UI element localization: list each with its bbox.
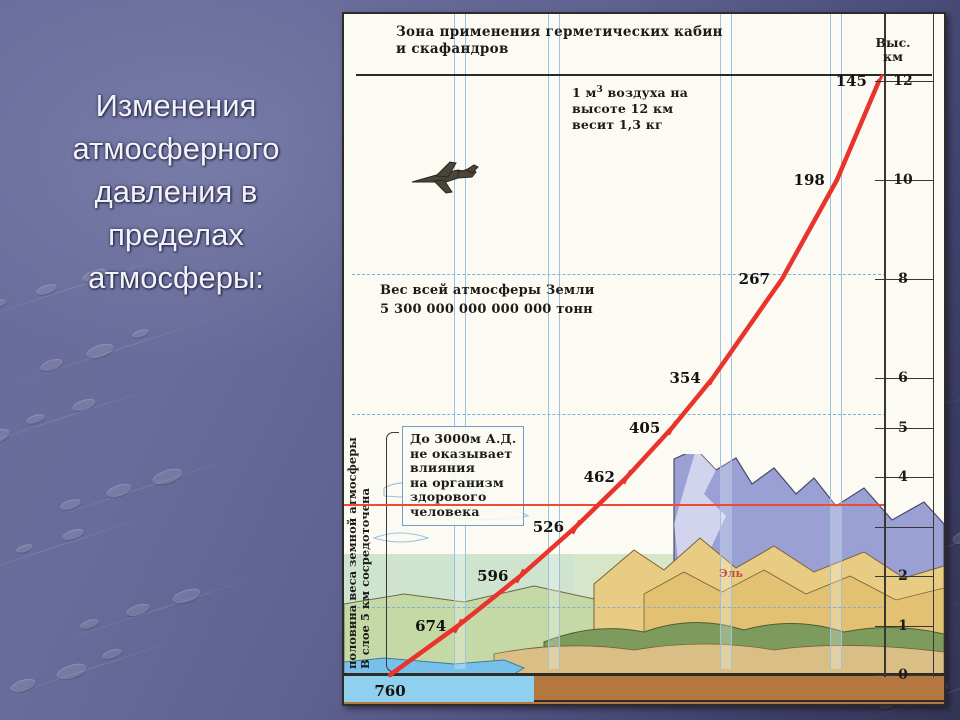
decorative-dot [39, 357, 64, 373]
decorative-dot [0, 426, 11, 447]
decorative-streak [0, 513, 159, 585]
pressure-label-145: 145 [836, 72, 871, 90]
decorative-dot [25, 412, 46, 425]
decorative-dot [0, 298, 7, 309]
decorative-dot [131, 328, 149, 340]
decorative-dot [61, 527, 85, 543]
axis-tick-label-8: 8 [892, 271, 914, 287]
decorative-streak [10, 313, 229, 385]
axis-tick [875, 576, 886, 577]
axis-tick-outer [886, 527, 934, 528]
axis-title-line-1: Выс. [858, 36, 928, 50]
axis-tick-label-5: 5 [892, 420, 914, 436]
decorative-streak [50, 573, 269, 645]
title-line-2: атмосферного [26, 127, 326, 170]
pressure-curve [344, 14, 944, 704]
title-line-1: Изменения [26, 84, 326, 127]
decorative-streak [30, 453, 249, 525]
title-line-4: пределах [26, 213, 326, 256]
decorative-dot [951, 526, 960, 547]
title-line-3: давления в [26, 170, 326, 213]
axis-tick [875, 180, 886, 181]
axis-tick [875, 378, 886, 379]
decorative-streak [0, 633, 199, 705]
pressure-label-198: 198 [794, 171, 829, 189]
page-title: Изменения атмосферного давления в предел… [26, 84, 326, 299]
pressure-label-526: 526 [533, 518, 568, 536]
decorative-dot [151, 466, 185, 488]
decorative-dot [55, 661, 89, 683]
altitude-axis [884, 14, 886, 677]
axis-tick [875, 626, 886, 627]
decorative-dot [85, 341, 115, 361]
axis-tick [875, 81, 886, 82]
axis-tick-label-6: 6 [892, 370, 914, 386]
decorative-dot [105, 481, 133, 499]
title-line-5: атмосферы: [26, 256, 326, 299]
altitude-axis-outer-border [933, 14, 935, 677]
axis-tick-label-2: 2 [892, 568, 914, 584]
decorative-dot [125, 602, 151, 619]
axis-tick-label-4: 4 [892, 469, 914, 485]
decorative-dot [79, 617, 100, 630]
axis-tick-label-1: 1 [892, 618, 914, 634]
presentation-slide: Изменения атмосферного давления в предел… [0, 0, 960, 720]
axis-title-line-2: км [858, 50, 928, 64]
axis-tick-label-10: 10 [892, 172, 914, 188]
decorative-dot [101, 647, 123, 661]
decorative-dot [9, 676, 37, 694]
decorative-dot [71, 397, 97, 414]
pressure-label-760: 760 [374, 682, 409, 700]
pressure-label-354: 354 [670, 369, 705, 387]
decorative-streak [0, 383, 169, 455]
axis-tick [875, 527, 886, 528]
axis-title: Выс. км [858, 36, 928, 64]
axis-tick [875, 477, 886, 478]
axis-tick [875, 279, 886, 280]
pressure-label-674: 674 [415, 617, 450, 635]
decorative-dot [171, 586, 202, 607]
pressure-label-267: 267 [739, 270, 774, 288]
axis-tick-label-12: 12 [892, 73, 914, 89]
decorative-dot [15, 543, 33, 555]
decorative-dot [59, 497, 82, 512]
pressure-label-405: 405 [629, 419, 664, 437]
pressure-label-462: 462 [584, 468, 619, 486]
axis-tick [875, 428, 886, 429]
pressure-label-596: 596 [477, 567, 512, 585]
axis-tick-label-0: 0 [892, 667, 914, 683]
atmosphere-pressure-diagram: Зона применения герметических кабин и ск… [342, 12, 946, 706]
axis-tick [875, 675, 886, 676]
